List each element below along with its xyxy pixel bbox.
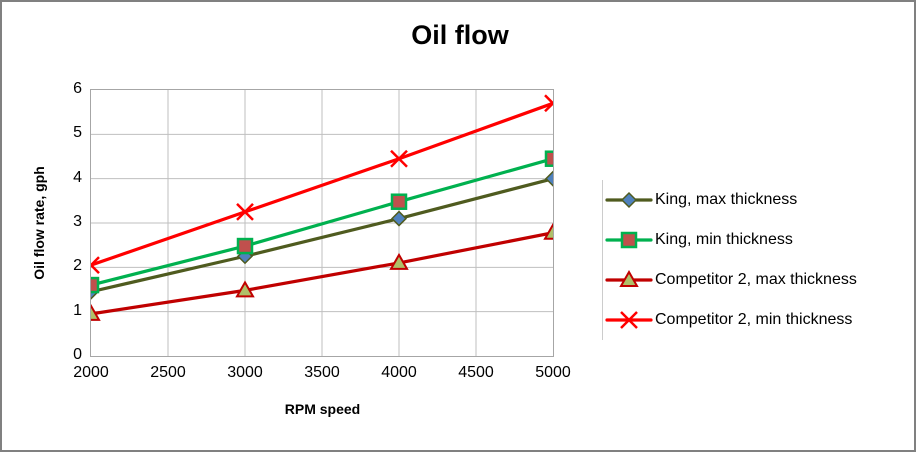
x-axis-tick-labels: 2000250030003500400045005000 [90, 364, 554, 388]
legend-key-svg [605, 189, 653, 211]
marker-square [392, 195, 406, 209]
plot-svg [91, 90, 553, 356]
data-point-marker [91, 278, 98, 292]
marker-diamond [622, 193, 636, 207]
x-tick-label: 3000 [215, 364, 275, 382]
y-tick-label: 6 [42, 80, 82, 98]
legend-key-svg [605, 269, 653, 291]
data-point-marker [622, 193, 636, 207]
legend-label-1: King, min thickness [653, 231, 793, 249]
data-point-marker [545, 225, 553, 239]
marker-diamond [546, 172, 553, 186]
x-tick-label: 5000 [523, 364, 583, 382]
legend-item-2[interactable]: Competitor 2, max thickness [605, 260, 905, 300]
y-axis-tick-labels: 0123456 [40, 89, 82, 357]
x-tick-label: 3500 [292, 364, 352, 382]
marker-square [622, 233, 636, 247]
x-tick-label: 4000 [369, 364, 429, 382]
marker-square [238, 239, 252, 253]
data-point-marker [392, 195, 406, 209]
legend-marker-x-icon [605, 309, 653, 331]
chart-legend: King, max thicknessKing, min thicknessCo… [602, 180, 905, 340]
y-tick-label: 2 [42, 257, 82, 275]
data-point-marker [622, 233, 636, 247]
marker-triangle [545, 225, 553, 239]
y-tick-label: 0 [42, 346, 82, 364]
legend-item-3[interactable]: Competitor 2, min thickness [605, 300, 905, 340]
legend-marker-diamond-icon [605, 189, 653, 211]
y-tick-label: 1 [42, 302, 82, 320]
legend-label-3: Competitor 2, min thickness [653, 311, 852, 329]
data-point-marker [546, 172, 553, 186]
y-tick-label: 4 [42, 169, 82, 187]
legend-item-1[interactable]: King, min thickness [605, 220, 905, 260]
marker-square [546, 152, 553, 166]
x-tick-label: 2000 [61, 364, 121, 382]
legend-item-0[interactable]: King, max thickness [605, 180, 905, 220]
x-tick-label: 4500 [446, 364, 506, 382]
chart-frame: Oil flow Oil flow rate, gph 0123456 2000… [0, 0, 916, 452]
legend-key-svg [605, 229, 653, 251]
y-tick-label: 5 [42, 124, 82, 142]
legend-label-0: King, max thickness [653, 191, 797, 209]
plot-area [90, 89, 554, 357]
marker-square [91, 278, 98, 292]
chart-title: Oil flow [2, 20, 916, 51]
x-tick-label: 2500 [138, 364, 198, 382]
y-tick-label: 3 [42, 213, 82, 231]
x-axis-title: RPM speed [90, 401, 555, 417]
legend-marker-square-icon [605, 229, 653, 251]
legend-key-svg [605, 309, 653, 331]
data-point-marker [546, 152, 553, 166]
legend-marker-triangle-icon [605, 269, 653, 291]
legend-label-2: Competitor 2, max thickness [653, 271, 857, 289]
data-point-marker [238, 239, 252, 253]
